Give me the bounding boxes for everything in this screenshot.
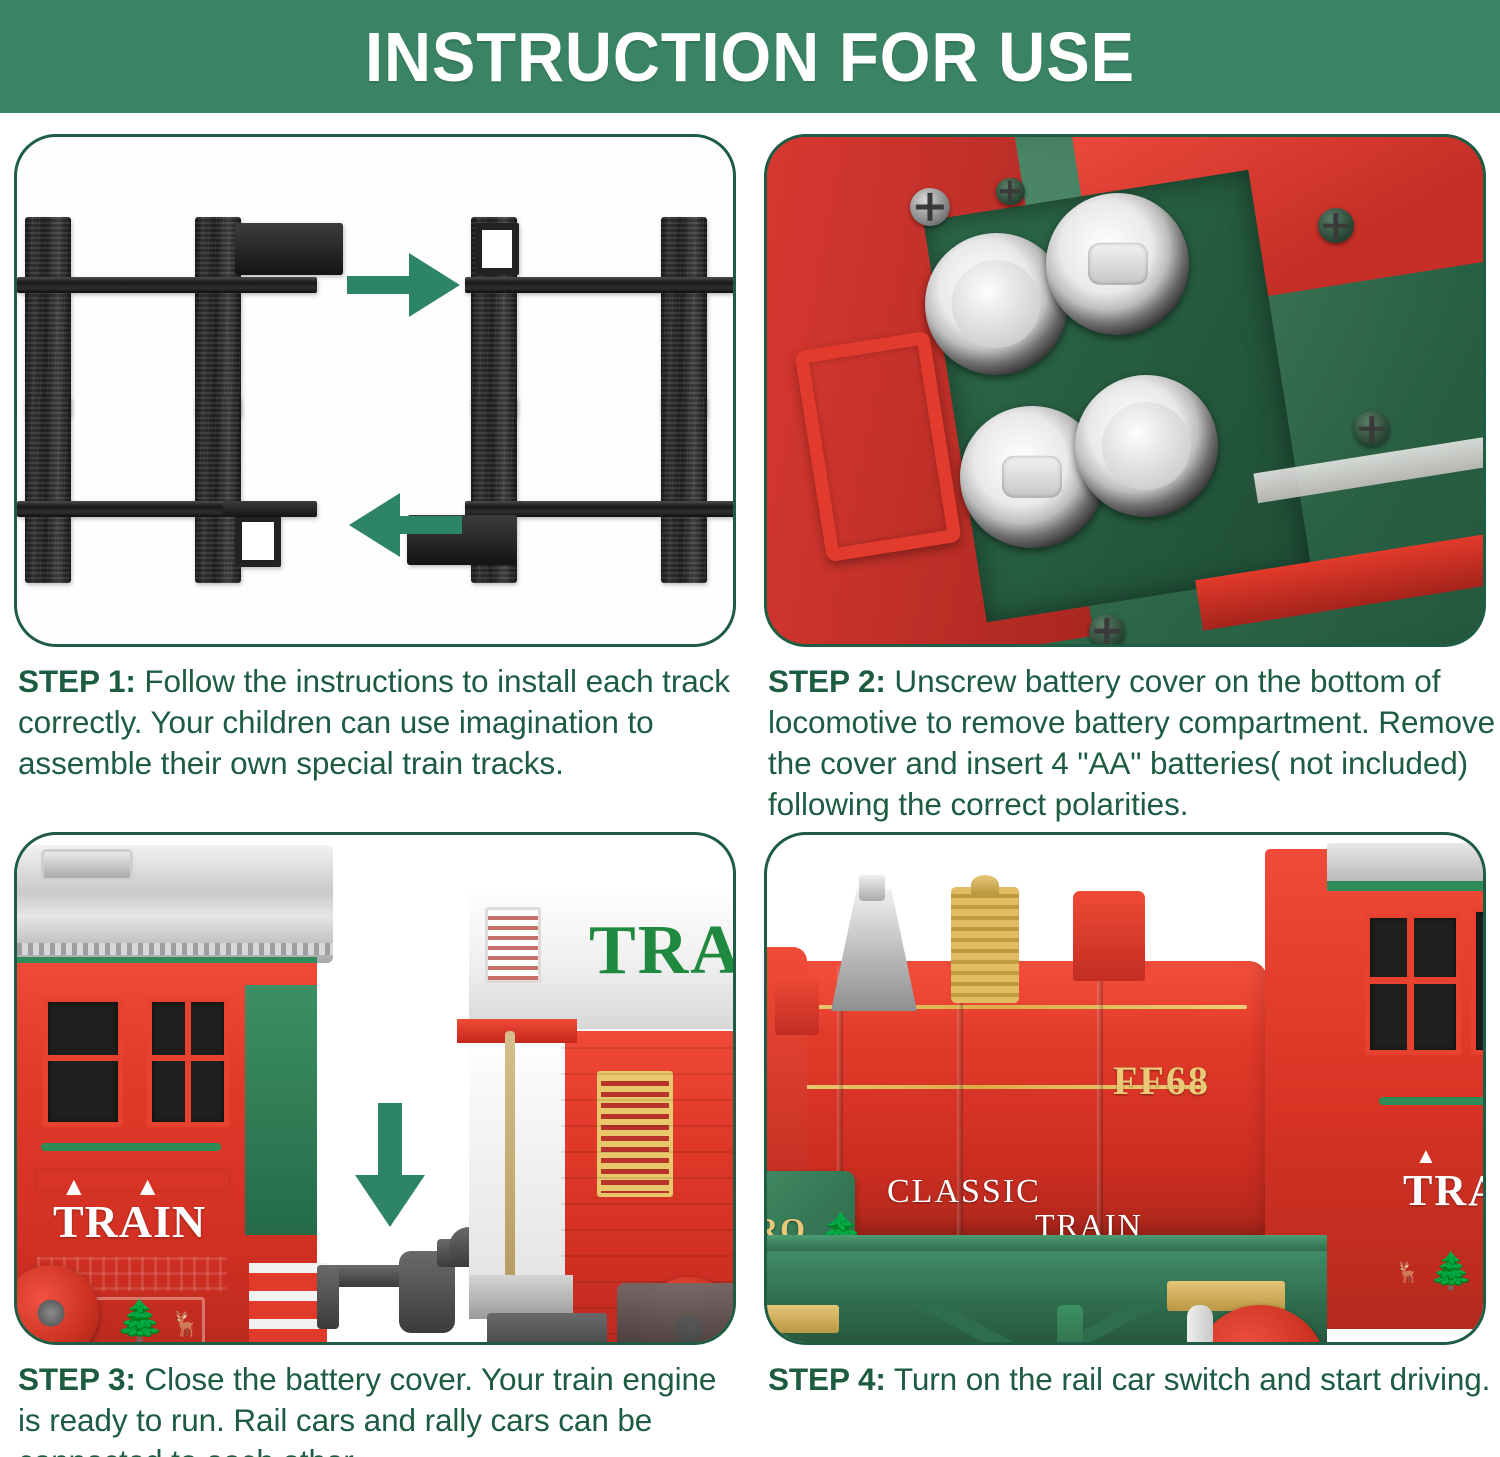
step-3-label: STEP 3: <box>18 1361 136 1397</box>
step-3-image-panel: TRAIN ▲▲ 🌲 🦌🦌 <box>14 832 736 1345</box>
screw-top-left <box>910 188 949 226</box>
steam-dome-gold <box>951 887 1019 1003</box>
left-car-green-edge <box>17 957 317 963</box>
arrow-down-icon <box>353 1103 427 1229</box>
left-car-roof-stitch <box>14 943 333 955</box>
cylinder-left <box>764 1305 839 1333</box>
cab-window-2 <box>1471 907 1486 1055</box>
step-2-caption: STEP 2: Unscrew battery cover on the bot… <box>768 661 1496 825</box>
page-title: INSTRUCTION FOR USE <box>365 17 1135 97</box>
screw-top-mid <box>996 178 1025 206</box>
left-car-white-steps <box>249 1263 327 1345</box>
cab-train-decal: TRAIN <box>1403 1165 1486 1216</box>
track-piece-right-top <box>465 217 736 417</box>
arrow-right-icon <box>347 249 462 321</box>
smokestack <box>831 889 917 1011</box>
step-1-image-panel <box>14 134 736 647</box>
step-4-image-panel: TRAIN ▲▲ 🌲 🦌🦌 CLASSIC TRAIN FF68 RO RAIN… <box>764 832 1486 1345</box>
left-car-window-divider-h2 <box>43 1055 123 1061</box>
step-4-caption: STEP 4: Turn on the rail car switch and … <box>768 1359 1496 1400</box>
valve-gear <box>887 1305 1187 1345</box>
left-car-antlers: ▲▲ <box>61 1171 208 1202</box>
right-car-truck <box>617 1283 736 1345</box>
right-car-roof-vent <box>485 907 541 983</box>
running-board <box>764 1235 1327 1251</box>
coupling-illustration: TRAIN ▲▲ 🌲 🦌🦌 <box>17 835 733 1342</box>
arrow-left-icon <box>347 489 462 561</box>
cab-green-stripe <box>1379 1097 1486 1105</box>
crosshead <box>1057 1305 1083 1345</box>
battery-2 <box>1046 193 1189 335</box>
instruction-sheet: INSTRUCTION FOR USE <box>0 0 1500 1457</box>
boiler-classic-text: CLASSIC <box>887 1173 1041 1211</box>
left-car-train-decal: TRAIN <box>53 1195 206 1248</box>
coupler-left-hook <box>317 1265 339 1329</box>
smokestack-cap <box>859 875 885 901</box>
battery-compartment-photo <box>767 137 1483 644</box>
steam-dome-cap <box>971 875 999 895</box>
right-car-underframe <box>487 1313 607 1345</box>
left-car-window-1 <box>43 997 123 1127</box>
boiler-band-3 <box>1097 965 1103 1239</box>
cab-roof-green <box>1327 881 1486 891</box>
cab-window-divider-v <box>1407 913 1414 1055</box>
step-3-caption: STEP 3: Close the battery cover. Your tr… <box>18 1359 746 1457</box>
track-piece-left-bottom <box>17 397 337 587</box>
engine-number: FF68 <box>1113 1057 1210 1104</box>
right-car-red-frame <box>457 1019 577 1043</box>
track-assembly-illustration <box>17 137 733 644</box>
left-car-window-divider-v <box>185 997 191 1127</box>
track-piece-right-bottom <box>465 397 736 587</box>
steps-grid: STEP 1: Follow the instructions to insta… <box>0 113 1500 1457</box>
bell-red <box>775 975 819 1035</box>
sand-dome-red <box>1073 891 1145 981</box>
left-car-green-stripe <box>41 1143 221 1151</box>
step-4-text: Turn on the rail car switch and start dr… <box>886 1361 1491 1397</box>
locomotive-illustration: TRAIN ▲▲ 🌲 🦌🦌 CLASSIC TRAIN FF68 RO RAIN… <box>767 835 1483 1342</box>
right-car-door-rail <box>505 1031 515 1299</box>
screw-bottom <box>1089 614 1125 647</box>
cab-roof <box>1327 843 1486 885</box>
step-2-image-panel <box>764 134 1486 647</box>
page-header: INSTRUCTION FOR USE <box>0 0 1500 113</box>
cab-antlers: ▲▲ <box>1415 1143 1486 1169</box>
left-car-roof-vent <box>41 849 133 881</box>
right-car-train-decal: TRA <box>589 911 736 991</box>
cab-window-divider-h <box>1365 977 1461 984</box>
driver-wheel-large-tyre <box>1187 1305 1213 1345</box>
left-car-side-green <box>245 985 317 1235</box>
step-1-caption: STEP 1: Follow the instructions to insta… <box>18 661 746 784</box>
cab-deer-icons: 🦌🦌 <box>1395 1263 1486 1283</box>
screw-right-lower <box>1354 411 1390 446</box>
step-1-label: STEP 1: <box>18 663 136 699</box>
battery-4 <box>1075 375 1218 517</box>
step-2-label: STEP 2: <box>768 663 886 699</box>
right-car-white-door <box>469 1031 565 1291</box>
track-piece-left-top <box>17 217 337 417</box>
step-4-label: STEP 4: <box>768 1361 886 1397</box>
